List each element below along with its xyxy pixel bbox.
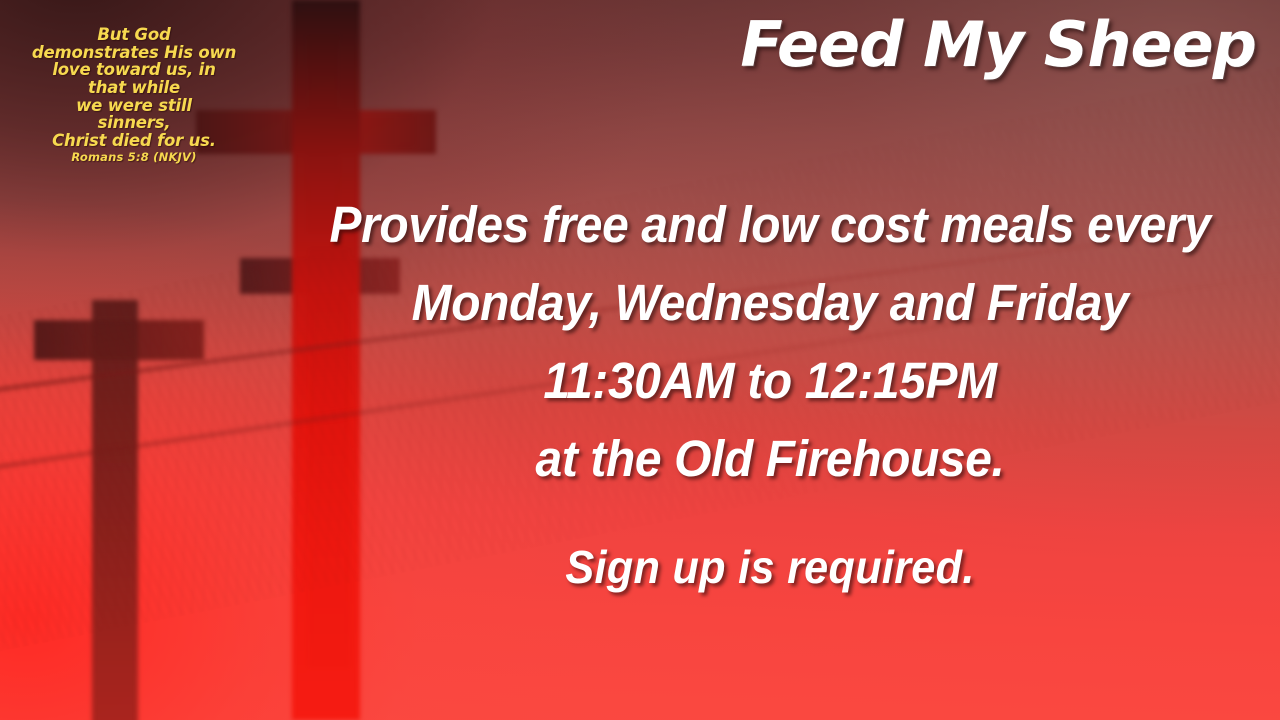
- page-title: Feed My Sheep: [740, 14, 1256, 76]
- body-line-location: at the Old Firehouse.: [300, 420, 1240, 498]
- body-line-signup: Sign up is required.: [300, 528, 1240, 606]
- body-text-block: Provides free and low cost meals every M…: [270, 186, 1270, 606]
- scripture-block: But God demonstrates His own love toward…: [14, 26, 254, 166]
- slide-canvas: But God demonstrates His own love toward…: [0, 0, 1280, 720]
- body-line-days: Monday, Wednesday and Friday: [300, 264, 1240, 342]
- scripture-line: But God: [97, 25, 170, 44]
- body-line-times: 11:30AM to 12:15PM: [300, 342, 1240, 420]
- scripture-line: demonstrates His own: [32, 43, 236, 62]
- scripture-line: that while: [88, 78, 180, 97]
- body-line-description: Provides free and low cost meals every: [300, 186, 1240, 264]
- scripture-line: we were still: [76, 96, 192, 115]
- scripture-reference: Romans 5:8 (NKJV): [14, 150, 254, 166]
- scripture-line: love toward us, in: [52, 60, 215, 79]
- scripture-line: sinners,: [98, 113, 171, 132]
- scripture-line: Christ died for us.: [52, 131, 216, 150]
